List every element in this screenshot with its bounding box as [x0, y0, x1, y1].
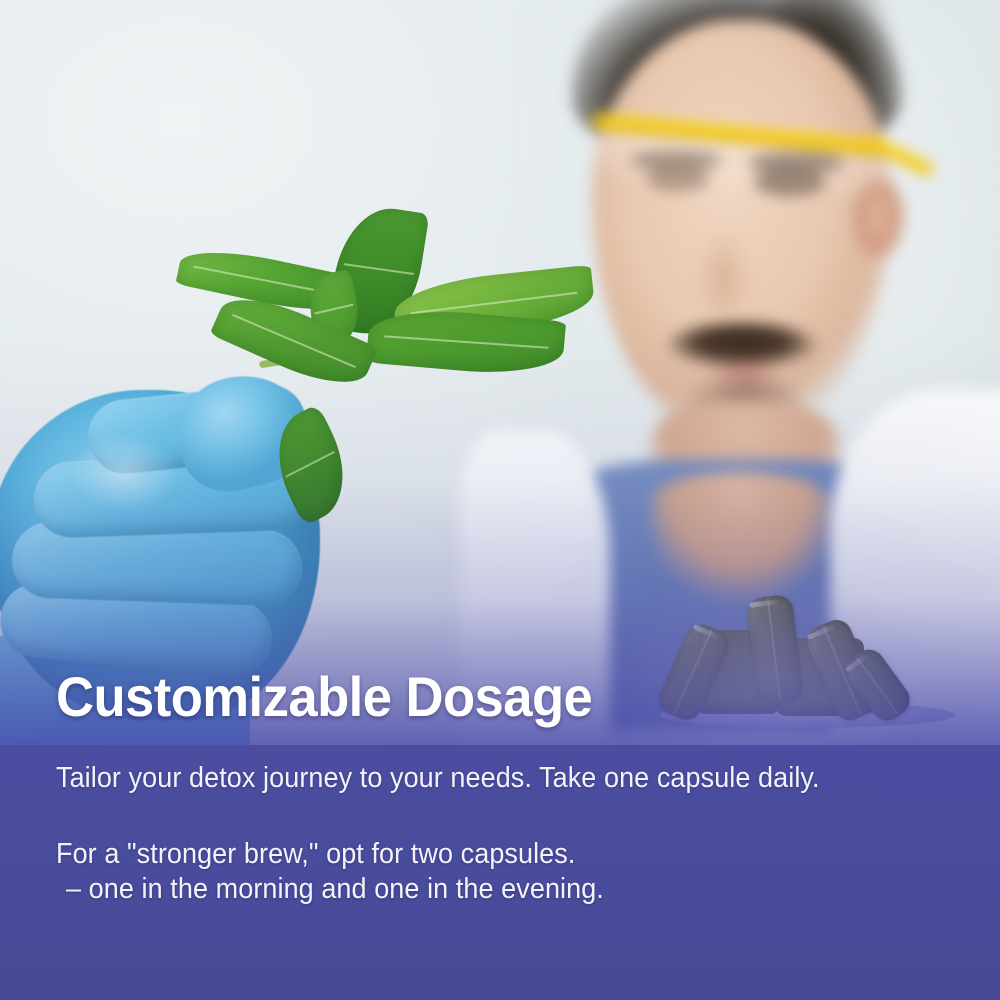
- capsule-group: [650, 590, 970, 740]
- nose: [686, 196, 762, 314]
- body-line-dosage: Tailor your detox journey to your needs.…: [56, 762, 820, 795]
- body-line-stronger-brew: For a "stronger brew," opt for two capsu…: [56, 838, 575, 871]
- safety-glasses-icon: [592, 115, 922, 185]
- leaf-sprig: [150, 195, 620, 525]
- promotional-poster: Customizable Dosage Tailor your detox jo…: [0, 0, 1000, 1000]
- page-title: Customizable Dosage: [56, 664, 592, 729]
- body-line-morning-evening: – one in the morning and one in the even…: [66, 873, 604, 906]
- leaf-bottom-curl: [259, 404, 364, 526]
